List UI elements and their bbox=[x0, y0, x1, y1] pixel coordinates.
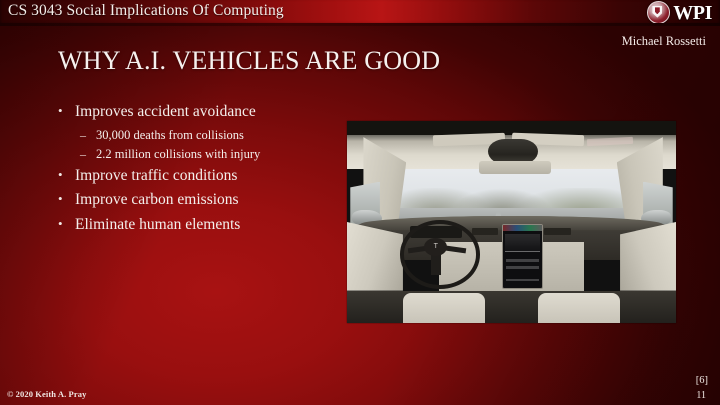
wpi-wordmark: WPI bbox=[673, 3, 712, 23]
photo-footwell bbox=[347, 291, 676, 323]
photo-air-vent-left bbox=[472, 228, 498, 235]
list-item: • Improve traffic conditions bbox=[58, 168, 336, 184]
bullet-list: • Improves accident avoidance – 30,000 d… bbox=[58, 104, 336, 241]
bullet-text: 2.2 million collisions with injury bbox=[96, 148, 336, 161]
list-item: • Improves accident avoidance bbox=[58, 104, 336, 120]
list-item: • Eliminate human elements bbox=[58, 217, 336, 233]
photo-screen-row bbox=[506, 259, 539, 262]
tesla-interior-photo: T bbox=[347, 121, 676, 323]
bullet-marker-icon: • bbox=[58, 192, 75, 206]
wpi-seal-icon bbox=[647, 1, 670, 24]
author-name: Michael Rossetti bbox=[622, 34, 706, 49]
tesla-t-logo-icon: T bbox=[430, 242, 441, 252]
bullet-marker-icon: • bbox=[58, 168, 75, 182]
list-item: – 30,000 deaths from collisions bbox=[80, 129, 336, 142]
bullet-text: 30,000 deaths from collisions bbox=[96, 129, 336, 142]
list-item: • Improve carbon emissions bbox=[58, 192, 336, 208]
slide-header-bar: CS 3043 Social Implications Of Computing… bbox=[0, 0, 720, 26]
photo-screen-row bbox=[506, 266, 539, 269]
dash-marker-icon: – bbox=[80, 129, 96, 142]
bullet-text: Improves accident avoidance bbox=[75, 104, 336, 120]
course-title: CS 3043 Social Implications Of Computing bbox=[8, 2, 284, 20]
photo-air-vent-right bbox=[544, 228, 570, 235]
bullet-text: Improve traffic conditions bbox=[75, 168, 336, 184]
photo-screen-row bbox=[506, 279, 539, 282]
wpi-logo: WPI bbox=[647, 1, 712, 24]
page-number: 11 bbox=[696, 390, 706, 401]
bullet-marker-icon: • bbox=[58, 104, 75, 118]
photo-mirror-shade bbox=[479, 161, 551, 173]
dash-marker-icon: – bbox=[80, 148, 96, 161]
photo-seat-left bbox=[403, 293, 485, 323]
bullet-text: Eliminate human elements bbox=[75, 217, 336, 233]
bullet-text: Improve carbon emissions bbox=[75, 192, 336, 208]
photo-seat-right bbox=[538, 293, 620, 323]
copyright-notice: © 2020 Keith A. Pray bbox=[7, 389, 86, 399]
photo-wheel-spoke-bottom bbox=[431, 254, 441, 274]
presentation-slide: CS 3043 Social Implications Of Computing… bbox=[0, 0, 720, 405]
bullet-marker-icon: • bbox=[58, 217, 75, 231]
list-item: – 2.2 million collisions with injury bbox=[80, 148, 336, 161]
photo-screen-graph bbox=[505, 234, 540, 251]
photo-screen-statusbar bbox=[503, 225, 542, 231]
slide-title: WHY A.I. VEHICLES ARE GOOD bbox=[58, 46, 440, 76]
photo-center-touchscreen bbox=[502, 224, 543, 289]
citation-reference: [6] bbox=[696, 375, 708, 386]
